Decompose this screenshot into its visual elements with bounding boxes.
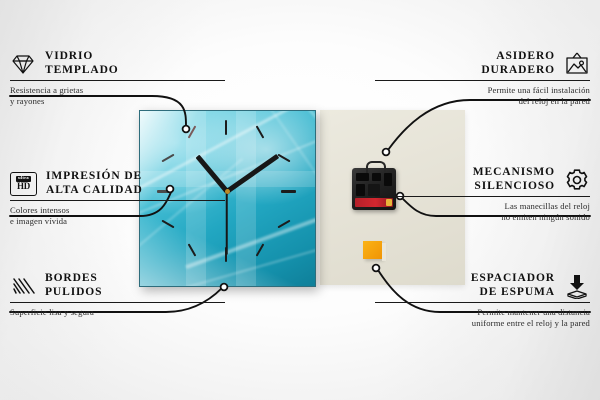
connector-dot — [183, 126, 190, 133]
divider — [10, 302, 225, 303]
feature-desc-line1: Resistencia a grietas — [10, 85, 225, 96]
feature-title-line2: DURADERO — [481, 64, 555, 78]
divider — [10, 80, 225, 81]
foam-spacer-icon — [564, 273, 590, 299]
infographic-canvas: VIDRIO TEMPLADO Resistencia a grietas y … — [0, 0, 600, 400]
diamond-icon — [10, 51, 36, 77]
feature-title-line2: ALTA CALIDAD — [46, 184, 143, 198]
connector-dot — [373, 265, 380, 272]
feature-desc-line2: y rayones — [10, 96, 225, 107]
feature-title-line2: SILENCIOSO — [473, 180, 555, 194]
feature-silent-mechanism: MECANISMO SILENCIOSO Las manecillas del … — [375, 166, 590, 223]
feature-desc-line2: no emiten ningún sonido — [375, 212, 590, 223]
feature-title-line1: MECANISMO — [473, 166, 555, 180]
feature-desc-line2: uniforme entre el reloj y la pared — [375, 318, 590, 329]
divider — [375, 196, 590, 197]
divider — [375, 302, 590, 303]
feature-wall-hanger: ASIDERO DURADERO Permite una fácil insta… — [375, 50, 590, 107]
gear-icon — [564, 167, 590, 193]
feature-polished-edges: BORDES PULIDOS Superficie lisa y segura — [10, 272, 225, 318]
feature-title-line1: BORDES — [45, 272, 102, 286]
connector-dot — [383, 149, 390, 156]
feature-title-line2: TEMPLADO — [45, 64, 119, 78]
feature-tempered-glass: VIDRIO TEMPLADO Resistencia a grietas y … — [10, 50, 225, 107]
feature-title-line1: IMPRESIÓN DE — [46, 170, 143, 184]
feature-title-line1: ESPACIADOR — [471, 272, 555, 286]
feature-desc-line1: Permite una fácil instalación — [375, 85, 590, 96]
feature-title-line1: VIDRIO — [45, 50, 119, 64]
feature-desc-line1: Las manecillas del reloj — [375, 201, 590, 212]
wall-hanger-icon — [564, 51, 590, 77]
feature-title-line2: DE ESPUMA — [471, 286, 555, 300]
divider — [375, 80, 590, 81]
feature-desc-line1: Permite mantener una distancia — [375, 307, 590, 318]
feature-hd-print: ultra HD IMPRESIÓN DE ALTA CALIDAD Color… — [10, 170, 225, 227]
feature-desc-line1: Colores intensos — [10, 205, 225, 216]
feature-title-line2: PULIDOS — [45, 286, 102, 300]
feature-foam-spacer: ESPACIADOR DE ESPUMA Permite mantener un… — [375, 272, 590, 329]
divider — [10, 200, 225, 201]
feature-desc-line1: Superficie lisa y segura — [10, 307, 225, 318]
polished-edges-icon — [10, 273, 36, 299]
ultra-hd-icon-bottom: HD — [17, 182, 30, 191]
ultra-hd-icon: ultra HD — [10, 172, 37, 196]
feature-desc-line2: del reloj en la pared — [375, 96, 590, 107]
feature-desc-line2: e imagen vívida — [10, 216, 225, 227]
feature-title-line1: ASIDERO — [481, 50, 555, 64]
